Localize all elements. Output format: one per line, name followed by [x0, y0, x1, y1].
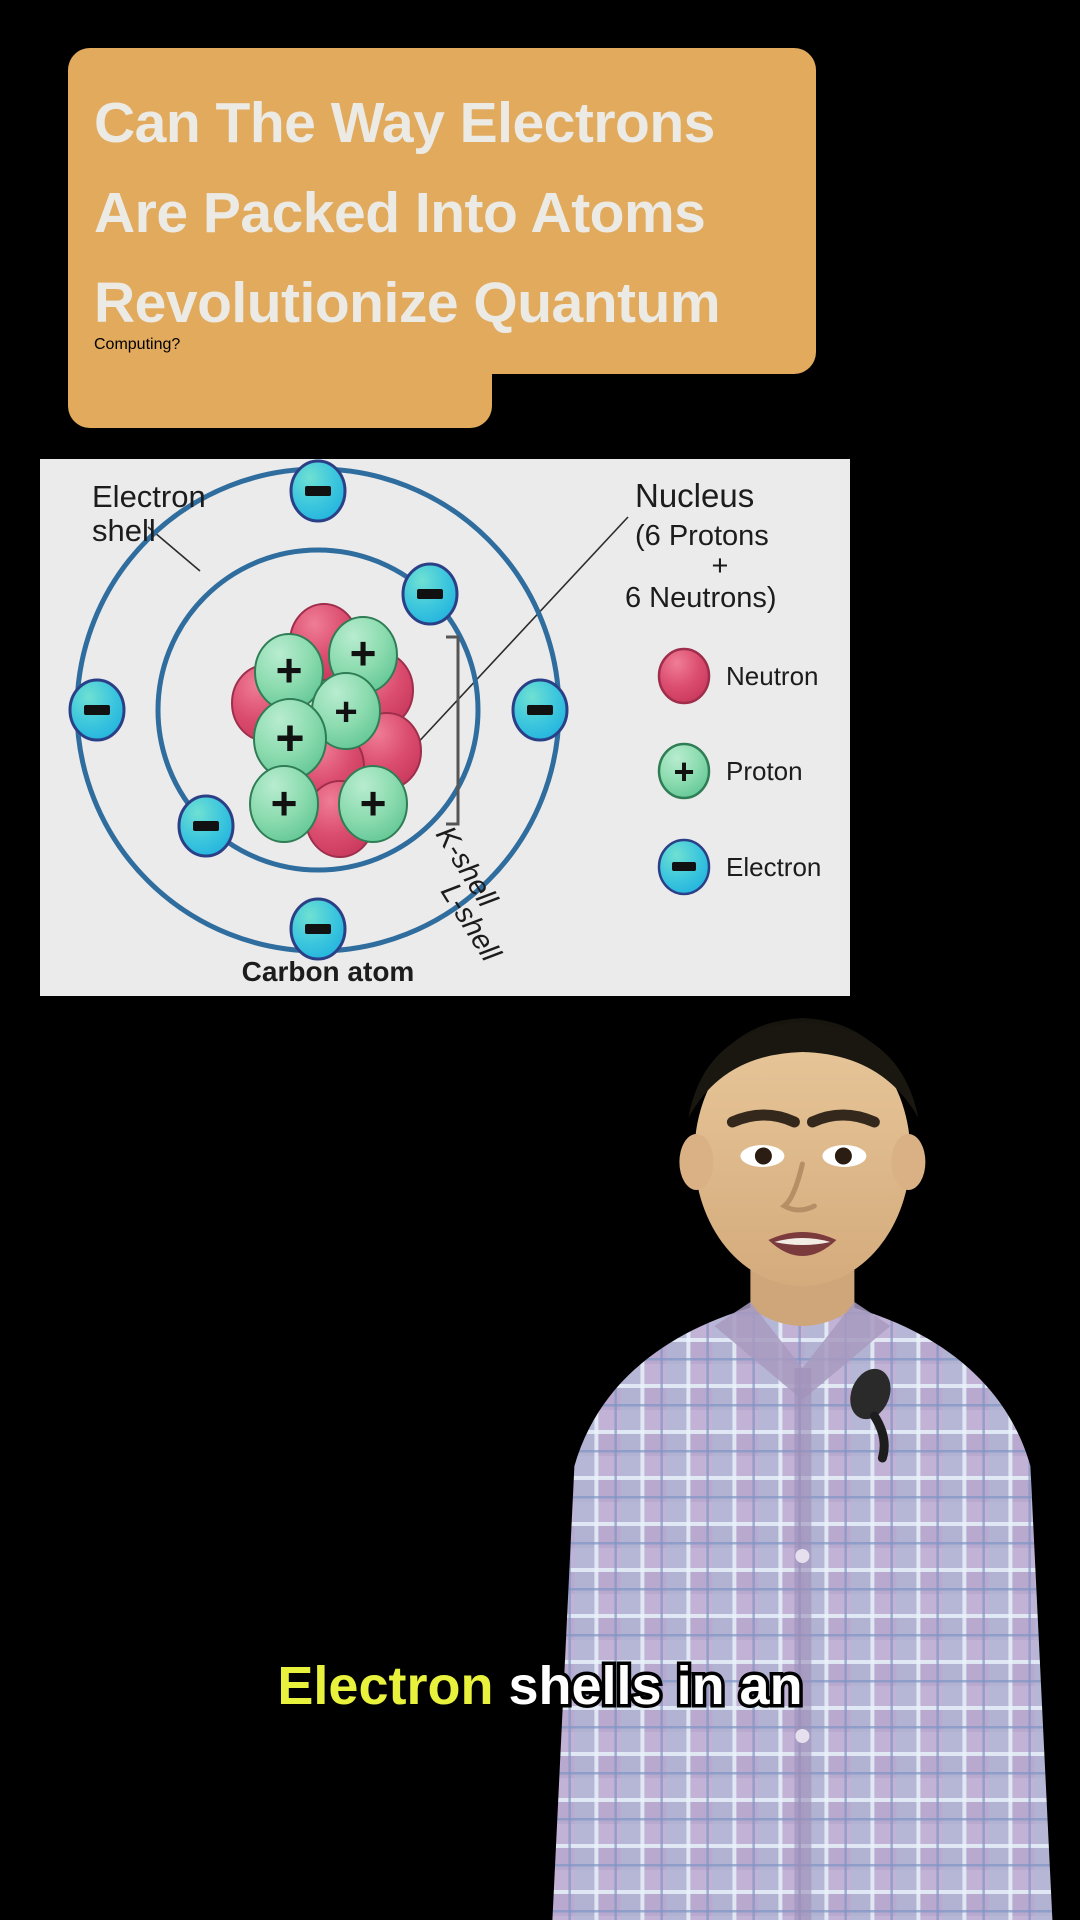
electron-minus-glyph: [193, 821, 219, 831]
proton-plus-glyph: +: [276, 644, 303, 696]
legend-electron-label: Electron: [726, 852, 821, 882]
proton-plus-glyph: +: [271, 777, 298, 829]
diagram-legend: Neutron + Proton Electron: [659, 649, 821, 894]
electron-minus-glyph: [305, 486, 331, 496]
nucleus-label: Nucleus: [635, 477, 754, 514]
electron-shell-label-line1: Electron: [92, 479, 206, 514]
legend-proton-glyph: +: [673, 751, 694, 792]
title-line-3: Revolutionize Quantum: [94, 258, 790, 348]
legend-neutron-label: Neutron: [726, 661, 819, 691]
nucleus-neutrons-label: 6 Neutrons): [625, 582, 777, 614]
presenter-placket: [794, 1368, 811, 1920]
presenter-ear-right: [891, 1134, 925, 1190]
proton-plus-glyph: +: [350, 627, 377, 679]
legend-neutron-swatch: [659, 649, 709, 703]
electron-minus-glyph: [417, 589, 443, 599]
shirt-button: [795, 1729, 809, 1743]
presenter-video-area: [0, 996, 1080, 1920]
proton-plus-glyph: +: [275, 710, 304, 766]
caption-rest-text: shells in an: [493, 1656, 802, 1716]
title-card-tail: Computing?: [68, 336, 492, 428]
proton-plus-glyph: +: [334, 690, 357, 734]
title-line-1: Can The Way Electrons: [94, 78, 790, 168]
caption-highlighted-word: Electron: [277, 1656, 493, 1716]
electron-minus-glyph: [84, 705, 110, 715]
title-line-2: Are Packed Into Atoms: [94, 168, 790, 258]
legend-electron-glyph: [672, 862, 696, 871]
caption-subtitle: Electron shells in an: [0, 1655, 1080, 1717]
nucleus-protons-label: (6 Protons: [635, 520, 769, 552]
legend-proton-label: Proton: [726, 756, 803, 786]
title-line-4: Computing?: [68, 336, 492, 354]
electron-shell-label-line2: shell: [92, 513, 156, 548]
proton-plus-glyph: +: [360, 777, 387, 829]
title-card: Can The Way Electrons Are Packed Into At…: [68, 48, 816, 374]
electron-minus-glyph: [305, 924, 331, 934]
atom-diagram-panel: + + + + + +: [40, 459, 850, 996]
presenter-figure: [482, 996, 1080, 1920]
electron-minus-glyph: [527, 705, 553, 715]
carbon-atom-caption: Carbon atom: [242, 956, 415, 987]
shirt-button: [795, 1549, 809, 1563]
nucleus-plus-label: +: [712, 550, 729, 582]
presenter-ear-left: [679, 1134, 713, 1190]
